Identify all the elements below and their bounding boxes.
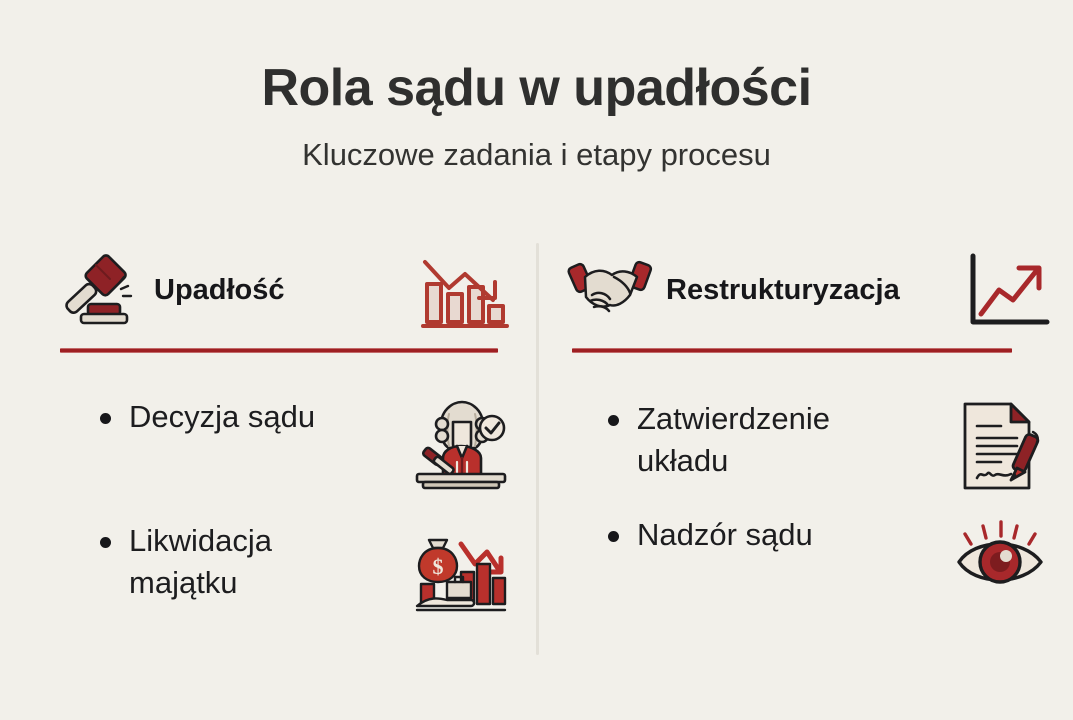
bullet-dot (608, 415, 619, 426)
column-restrukturyzacja: Restrukturyzacja Zatwierdzenie układu (570, 240, 1015, 340)
item-list-restrukturyzacja: Zatwierdzenie układu (570, 390, 1015, 614)
bullet-dot (100, 537, 111, 548)
page-title: Rola sądu w upadłości (0, 58, 1073, 118)
column-title: Restrukturyzacja (666, 274, 900, 307)
signed-document-icon (955, 398, 1049, 494)
asset-liquidation-icon: $ (413, 520, 509, 616)
eye-icon (953, 514, 1049, 598)
bullet-dot (100, 413, 111, 424)
list-item: Nadzór sądu (570, 514, 1015, 614)
column-header-restrukturyzacja: Restrukturyzacja (570, 240, 1015, 340)
column-rule (572, 348, 1012, 353)
column-title: Upadłość (154, 274, 285, 307)
column-upadlosc: Upadłość (58, 240, 503, 340)
bullet-dot (608, 531, 619, 542)
list-item: Decyzja sądu (58, 396, 503, 496)
list-item-label: Nadzór sądu (637, 514, 813, 556)
judge-icon (413, 396, 509, 492)
gavel-icon (58, 252, 136, 328)
list-item: Zatwierdzenie układu (570, 398, 1015, 498)
list-item-label: Decyzja sądu (129, 396, 315, 438)
column-divider (536, 243, 539, 655)
declining-bar-chart-icon (421, 256, 509, 332)
column-header-upadlosc: Upadłość (58, 240, 503, 340)
rising-line-chart-icon (963, 252, 1049, 332)
handshake-icon (570, 255, 652, 325)
infographic-canvas: Rola sądu w upadłości Kluczowe zadania i… (0, 0, 1073, 720)
svg-text:$: $ (433, 554, 444, 579)
page-subtitle: Kluczowe zadania i etapy procesu (0, 137, 1073, 173)
list-item: Likwidacja majątku $ (58, 520, 503, 620)
column-rule (60, 348, 498, 353)
list-item-label: Likwidacja majątku (129, 520, 374, 604)
item-list-upadlosc: Decyzja sądu (58, 390, 503, 620)
list-item-label: Zatwierdzenie układu (637, 398, 882, 482)
